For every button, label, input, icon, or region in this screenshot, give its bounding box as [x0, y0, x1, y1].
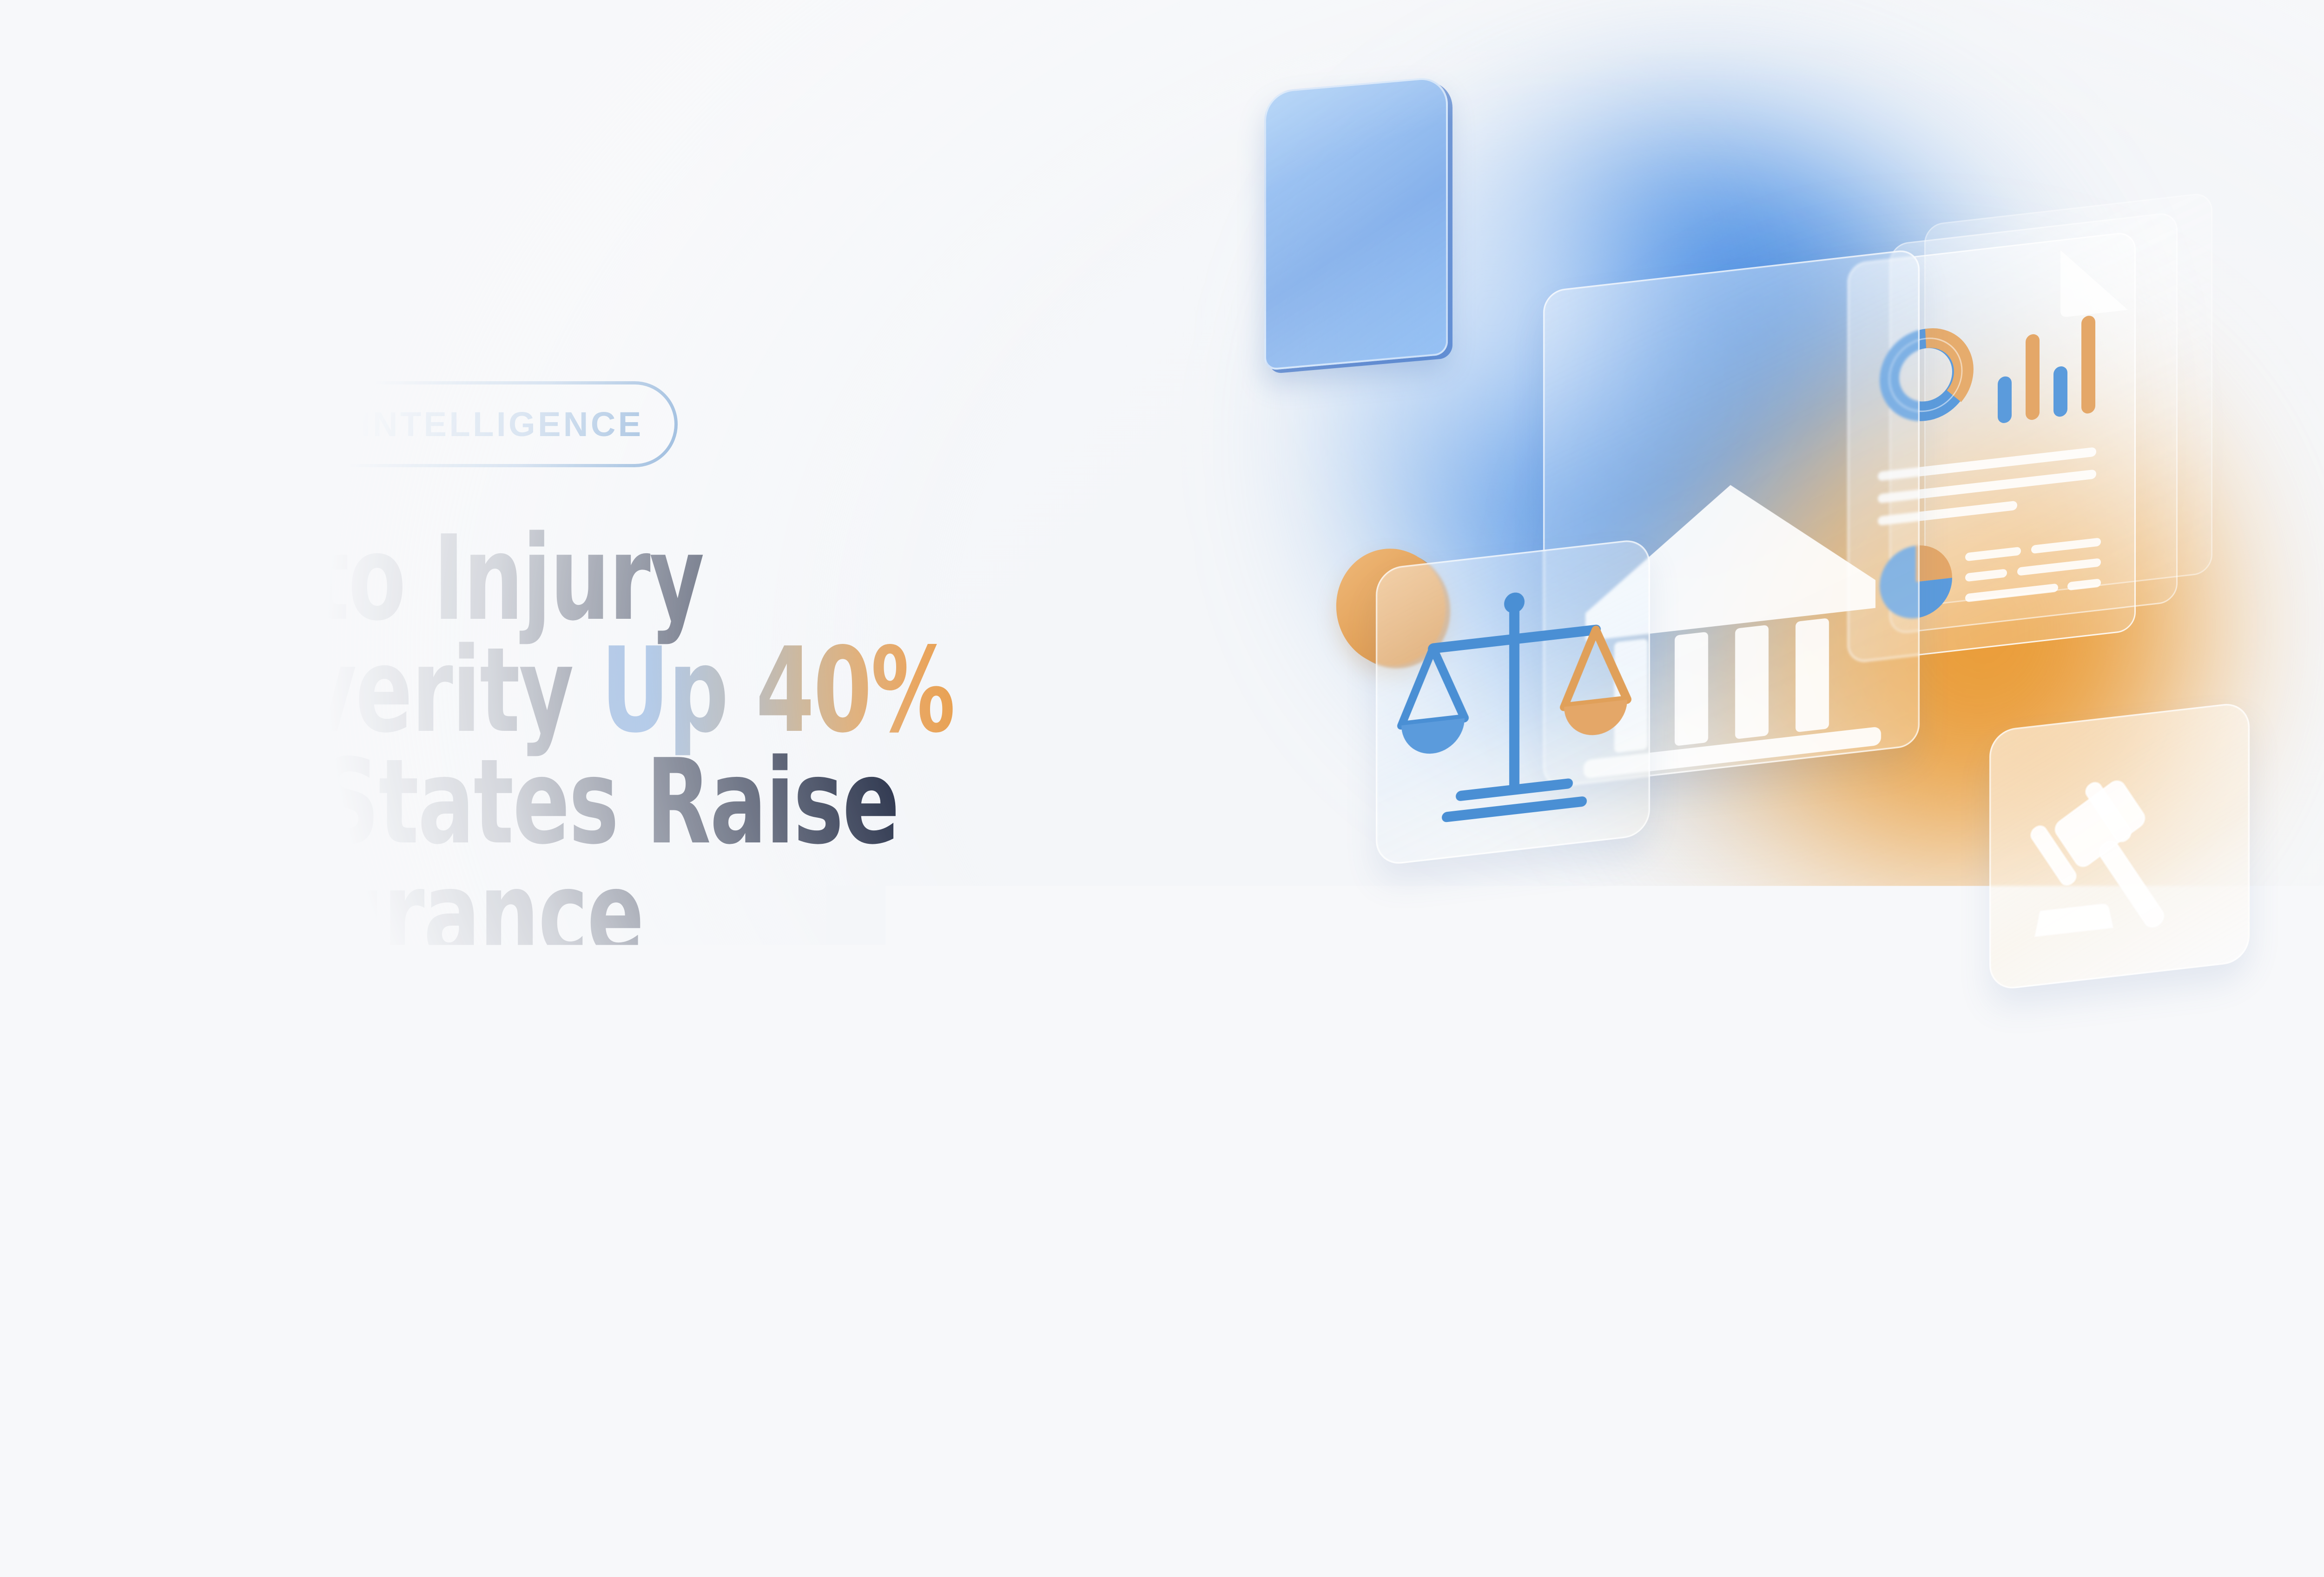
hero-text-column: LEGAL INTELLIGENCE Auto Injury Severity …: [186, 381, 1348, 1082]
badge-label: LEGAL INTELLIGENCE: [220, 407, 644, 442]
hero-illustration: [1264, 84, 2324, 1478]
headline-line-4: Insurance: [186, 859, 1339, 971]
gavel-icon: [1991, 702, 2251, 993]
gavel-plate: [1989, 701, 2250, 991]
blue-glass-slab: [1264, 76, 1448, 371]
soft-shadow-right: [1924, 1041, 2212, 1153]
headline-line-5-text: Minimums: [186, 958, 665, 1094]
headline-line-5: Minimums: [186, 971, 1339, 1083]
headline-line-1: Auto Injury: [186, 523, 1339, 635]
scales-of-justice-icon: [1377, 539, 1651, 868]
page-title: Auto Injury Severity Up 40% as States Ra…: [186, 523, 1339, 1082]
eyebrow-badge: LEGAL INTELLIGENCE: [186, 381, 678, 467]
scales-plate: [1376, 537, 1650, 866]
headline-line-3: as States Raise: [186, 747, 1339, 859]
hero-canvas: LEGAL INTELLIGENCE Auto Injury Severity …: [0, 0, 2324, 1577]
blue-glass-cube: [1729, 947, 1929, 1121]
headline-line-2: Severity Up 40%: [186, 635, 1339, 747]
